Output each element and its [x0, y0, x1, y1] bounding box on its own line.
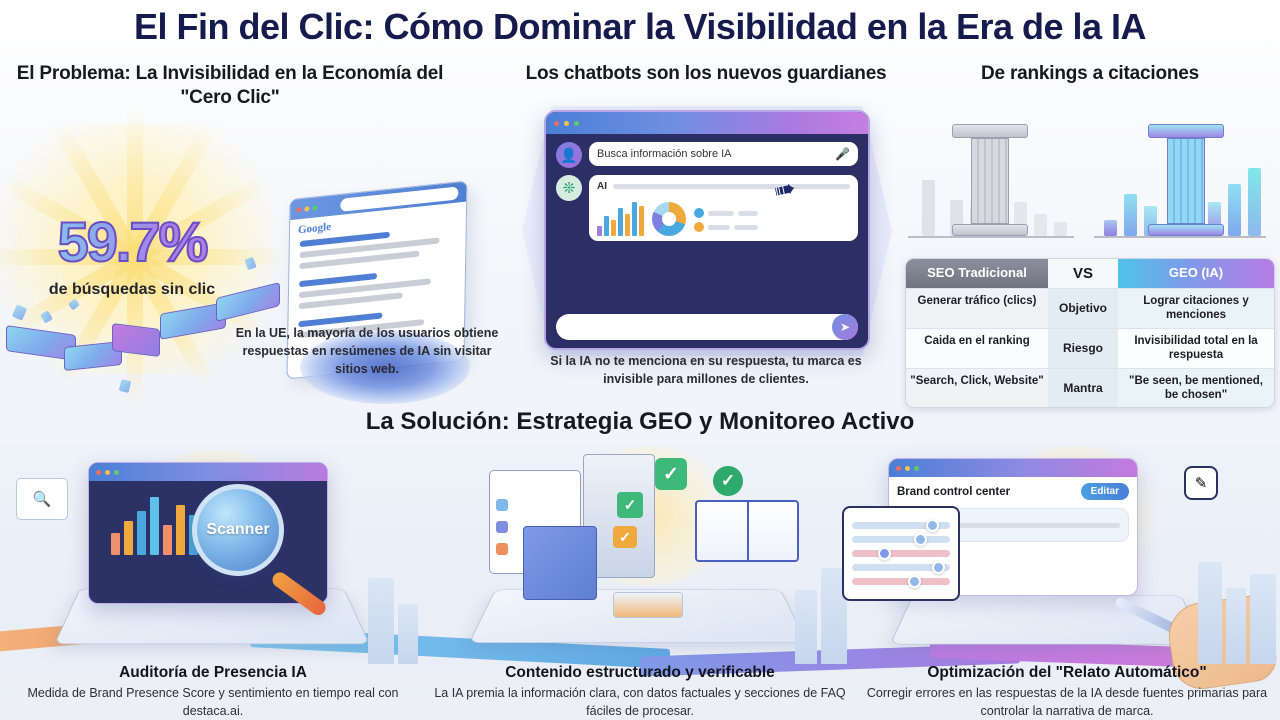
- solution-section: 🔍: [0, 444, 1280, 720]
- panel-pillars-title: De rankings a citaciones: [900, 62, 1280, 86]
- cell-seo-mantra: "Search, Click, Website": [906, 369, 1048, 408]
- search-card-icon: 🔍: [16, 478, 68, 520]
- solution-step-content: ✓ ✓ ✓ ✓ Contenido estructurado y verific…: [427, 444, 853, 720]
- edit-button[interactable]: Editar: [1081, 483, 1129, 500]
- infographic-page: El Fin del Clic: Cómo Dominar la Visibil…: [0, 0, 1280, 720]
- table-header-row: SEO Tradicional VS GEO (IA): [906, 259, 1274, 288]
- brand-window-titlebar: [889, 459, 1137, 477]
- step-text-narrative: Corregir errores en las respuestas de la…: [854, 685, 1280, 720]
- panel-chatbots-caption: Si la IA no te menciona en su respuesta,…: [526, 352, 886, 388]
- user-message-bubble: Busca información sobre IA 🎤: [589, 142, 858, 166]
- bar-chart-icon: [597, 198, 644, 236]
- city-building: [368, 578, 394, 664]
- dashboard-titlebar: [89, 463, 327, 481]
- slider-track[interactable]: [852, 564, 950, 571]
- chat-input-field[interactable]: [556, 314, 858, 340]
- panel-problem-caption: En la UE, la mayoría de los usuarios obt…: [232, 324, 502, 378]
- user-avatar-icon: 👤: [556, 142, 582, 168]
- column-header-seo: SEO Tradicional: [906, 259, 1048, 288]
- step-text-content: La IA premia la información clara, con d…: [427, 685, 853, 720]
- panel-chatbots-title: Los chatbots son los nuevos guardianes: [512, 62, 900, 86]
- panel-problem-title: El Problema: La Invisibilidad en la Econ…: [10, 62, 450, 110]
- ai-message-bubble: AI: [589, 175, 858, 241]
- panel-problem: El Problema: La Invisibilidad en la Econ…: [0, 62, 512, 392]
- slider-track[interactable]: [852, 550, 950, 557]
- table-row: "Search, Click, Website" Mantra "Be seen…: [906, 368, 1274, 408]
- panel-pillars: De rankings a citaciones: [900, 62, 1280, 392]
- column-header-vs: VS: [1048, 259, 1118, 288]
- city-building: [1198, 562, 1222, 664]
- cell-seo-riesgo: Caida en el ranking: [906, 329, 1048, 368]
- pillars-illustration: [908, 102, 1272, 252]
- ai-answer-charts: [597, 198, 850, 236]
- cell-geo-objetivo: Lograr citaciones y menciones: [1118, 289, 1274, 328]
- ai-message-label: AI: [597, 181, 607, 192]
- slider-track[interactable]: [852, 578, 950, 585]
- cell-seo-objetivo: Generar tráfico (clics): [906, 289, 1048, 328]
- microphone-icon[interactable]: 🎤: [835, 147, 850, 161]
- chat-titlebar: [546, 112, 868, 134]
- chat-body: 👤 Busca información sobre IA 🎤 ❊ AI: [546, 134, 868, 256]
- pencil-icon[interactable]: ✎: [1184, 466, 1218, 500]
- ai-answer-legend: [694, 204, 850, 236]
- chat-window: 👤 Busca información sobre IA 🎤 ❊ AI: [544, 110, 870, 350]
- solution-title: La Solución: Estrategia GEO y Monitoreo …: [0, 408, 1280, 436]
- city-building: [795, 590, 817, 664]
- database-cube: [523, 526, 597, 600]
- check-icon: ✓: [713, 466, 743, 496]
- chat-message-user: 👤 Busca información sobre IA 🎤: [556, 142, 858, 168]
- step-text-audit: Medida de Brand Presence Score y sentimi…: [0, 685, 426, 720]
- check-icon: ✓: [613, 526, 637, 548]
- cell-geo-mantra: "Be seen, be mentioned, be chosen": [1118, 369, 1274, 408]
- solution-step-narrative: Brand control center Editar AI: [854, 444, 1280, 720]
- city-building: [398, 604, 418, 664]
- column-header-geo: GEO (IA): [1118, 259, 1274, 288]
- table-row: Caida en el ranking Riesgo Invisibilidad…: [906, 328, 1274, 368]
- brand-window-title: Brand control center: [897, 486, 1010, 498]
- step-title-content: Contenido estructurado y verificable: [427, 664, 853, 682]
- open-book-icon: [695, 500, 799, 562]
- slider-track[interactable]: [852, 522, 950, 529]
- zero-click-stat-label: de búsquedas sin clic: [22, 280, 242, 299]
- openai-logo-icon: ❊: [556, 175, 582, 201]
- step-title-narrative: Optimización del "Relato Automático": [854, 664, 1280, 682]
- check-icon: ✓: [655, 458, 687, 490]
- send-icon[interactable]: ➤: [832, 314, 858, 340]
- panel-chatbots: Los chatbots son los nuevos guardianes 👤…: [512, 62, 900, 392]
- step-title-audit: Auditoría de Presencia IA: [0, 664, 426, 682]
- pillar-seo-broken: [952, 124, 1028, 236]
- pillar-geo-strong: [1148, 124, 1224, 236]
- cell-label-mantra: Mantra: [1048, 369, 1118, 408]
- scanner-magnifier-icon: Scanner: [192, 484, 284, 576]
- cell-label-riesgo: Riesgo: [1048, 329, 1118, 368]
- city-building: [1226, 588, 1246, 664]
- comparison-table: SEO Tradicional VS GEO (IA) Generar tráf…: [905, 258, 1275, 408]
- cell-label-objetivo: Objetivo: [1048, 289, 1118, 328]
- brand-window-header: Brand control center Editar: [889, 477, 1137, 506]
- solution-step-audit: 🔍: [0, 444, 426, 720]
- scanner-label: Scanner: [206, 521, 269, 539]
- chat-message-ai: ❊ AI: [556, 175, 858, 241]
- page-title: El Fin del Clic: Cómo Dominar la Visibil…: [0, 6, 1280, 48]
- dashboard-bar-chart: [111, 493, 198, 555]
- zero-click-stat-value: 59.7%: [22, 214, 242, 270]
- control-sliders-panel: [842, 506, 960, 601]
- slider-track[interactable]: [852, 536, 950, 543]
- user-message-text: Busca información sobre IA: [597, 148, 732, 160]
- table-row: Generar tráfico (clics) Objetivo Lograr …: [906, 288, 1274, 328]
- check-icon: ✓: [617, 492, 643, 518]
- city-building: [1250, 574, 1276, 664]
- cell-geo-riesgo: Invisibilidad total en la respuesta: [1118, 329, 1274, 368]
- data-layer: [613, 592, 683, 618]
- broken-slab: [112, 323, 160, 357]
- donut-chart-icon: [652, 202, 686, 236]
